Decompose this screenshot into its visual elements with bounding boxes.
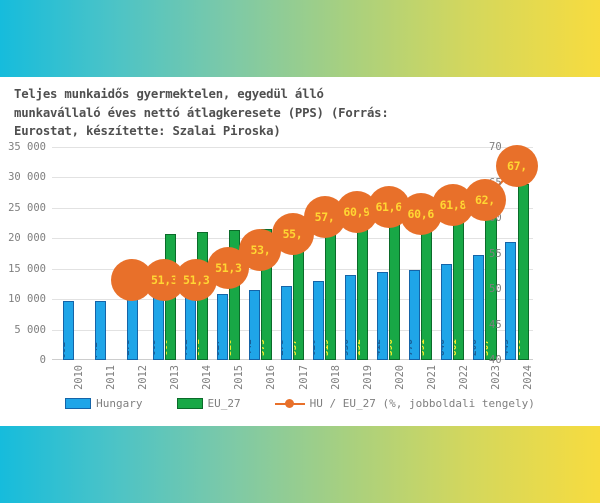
bar-value-label: 20 660: [165, 339, 171, 360]
x-axis-tick-label: 2021: [426, 365, 438, 390]
legend-item-ratio[interactable]: HU / EU_27 (%, jobboldali tengely): [275, 397, 535, 410]
chart-legend: Hungary EU_27 HU / EU_27 (%, jobboldali …: [0, 397, 600, 410]
bar-value-label: 9 681: [63, 342, 69, 360]
y2-axis-tick-label: 45: [489, 319, 539, 331]
x-axis-tick-label: 2010: [73, 365, 85, 390]
bar-value-label: 14 412: [377, 339, 383, 360]
y2-axis-tick-label: 55: [489, 248, 539, 260]
legend-label-eu27: EU_27: [208, 397, 241, 410]
chart-frame: Teljes munkaidős gyermektelen, egyedül á…: [0, 0, 600, 503]
gridline: [52, 147, 533, 148]
ratio-marker[interactable]: 67,: [496, 145, 538, 187]
bar-hungary[interactable]: 10 927: [217, 294, 228, 360]
legend-swatch-hungary: [65, 398, 91, 409]
legend-item-hungary[interactable]: Hungary: [65, 397, 142, 410]
y-axis-tick-label: 15 000: [0, 263, 46, 275]
bar-hungary[interactable]: 12 173: [281, 286, 292, 360]
x-axis-tick-label: 2017: [298, 365, 310, 390]
x-axis-tick-label: 2013: [169, 365, 181, 390]
bar-hungary[interactable]: 11 442: [249, 290, 260, 360]
bar-hungary[interactable]: 15 848: [441, 264, 452, 360]
bar-value-label: 21 575: [261, 339, 267, 360]
bar-hungary[interactable]: 17 208: [473, 255, 484, 360]
y-axis-tick-label: 25 000: [0, 202, 46, 214]
gridline: [52, 177, 533, 178]
bar-hungary[interactable]: 9 681: [63, 301, 74, 360]
y-axis-tick-label: 35 000: [0, 141, 46, 153]
chart-card: Teljes munkaidős gyermektelen, egyedül á…: [0, 77, 600, 426]
bar-value-label: 9 742: [95, 342, 101, 360]
legend-item-eu27[interactable]: EU_27: [177, 397, 241, 410]
bar-value-label: 24 391: [421, 339, 427, 360]
bar-hungary[interactable]: 9 742: [95, 301, 106, 360]
bar-value-label: 23 152: [357, 339, 363, 360]
bar-hungary[interactable]: 10 605: [153, 295, 164, 360]
legend-swatch-ratio: [275, 398, 305, 409]
bar-value-label: 20 971: [197, 339, 203, 360]
bar-value-label: 21 937: [293, 339, 299, 360]
y2-axis-tick-label: 50: [489, 283, 539, 295]
bar-hungary[interactable]: 14 412: [377, 272, 388, 360]
bar-hungary[interactable]: 10 173: [127, 298, 138, 360]
x-axis-tick-label: 2024: [522, 365, 534, 390]
y-axis-tick-label: 20 000: [0, 232, 46, 244]
bar-value-label: 12 173: [281, 339, 287, 360]
bar-hungary[interactable]: 13 936: [345, 275, 356, 360]
x-axis-tick-label: 2022: [458, 365, 470, 390]
bar-hungary[interactable]: 10 752: [185, 295, 196, 360]
x-axis-tick-label: 2016: [265, 365, 277, 390]
y-axis-tick-label: 30 000: [0, 171, 46, 183]
x-axis-tick-label: 2018: [330, 365, 342, 390]
bar-value-label: 23 396: [389, 339, 395, 360]
bar-value-label: 17 208: [473, 339, 479, 360]
bar-value-label: 10 927: [217, 339, 223, 360]
y-axis-tick-label: 5 000: [0, 324, 46, 336]
bar-value-label: 11 442: [249, 339, 255, 360]
chart-title: Teljes munkaidős gyermektelen, egyedül á…: [14, 85, 534, 141]
x-axis-tick-label: 2012: [137, 365, 149, 390]
x-axis-tick-label: 2015: [233, 365, 245, 390]
x-axis-tick-label: 2011: [105, 365, 117, 390]
bar-eu27[interactable]: 22 519: [325, 223, 336, 360]
bar-value-label: 15 848: [441, 339, 447, 360]
bar-value-label: 10 173: [127, 339, 133, 360]
bar-value-label: 10 752: [185, 339, 191, 360]
y-axis-tick-label: 0: [0, 354, 46, 366]
x-axis-tick-label: 2020: [394, 365, 406, 390]
bar-eu27[interactable]: 23 152: [357, 219, 368, 360]
x-axis-tick-label: 2023: [490, 365, 502, 390]
x-axis-tick-label: 2019: [362, 365, 374, 390]
bar-value-label: 25 861: [453, 339, 459, 360]
bar-eu27[interactable]: 25 861: [453, 203, 464, 360]
legend-swatch-eu27: [177, 398, 203, 409]
y-axis-tick-label: 10 000: [0, 293, 46, 305]
bar-value-label: 22 519: [325, 339, 331, 360]
bar-hungary[interactable]: 13 020: [313, 281, 324, 360]
bar-eu27[interactable]: 23 396: [389, 218, 400, 360]
bar-value-label: 13 936: [345, 339, 351, 360]
bar-eu27[interactable]: 28 906: [518, 184, 529, 360]
bar-value-label: 13 020: [313, 339, 319, 360]
ratio-marker[interactable]: 62,: [464, 179, 506, 221]
bar-hungary[interactable]: 14 778: [409, 270, 420, 360]
bar-value-label: 14 778: [409, 339, 415, 360]
bar-value-label: 21 320: [229, 339, 235, 360]
bar-value-label: 10 605: [153, 339, 159, 360]
legend-label-ratio: HU / EU_27 (%, jobboldali tengely): [310, 397, 535, 410]
x-axis-tick-label: 2014: [201, 365, 213, 390]
legend-label-hungary: Hungary: [96, 397, 142, 410]
